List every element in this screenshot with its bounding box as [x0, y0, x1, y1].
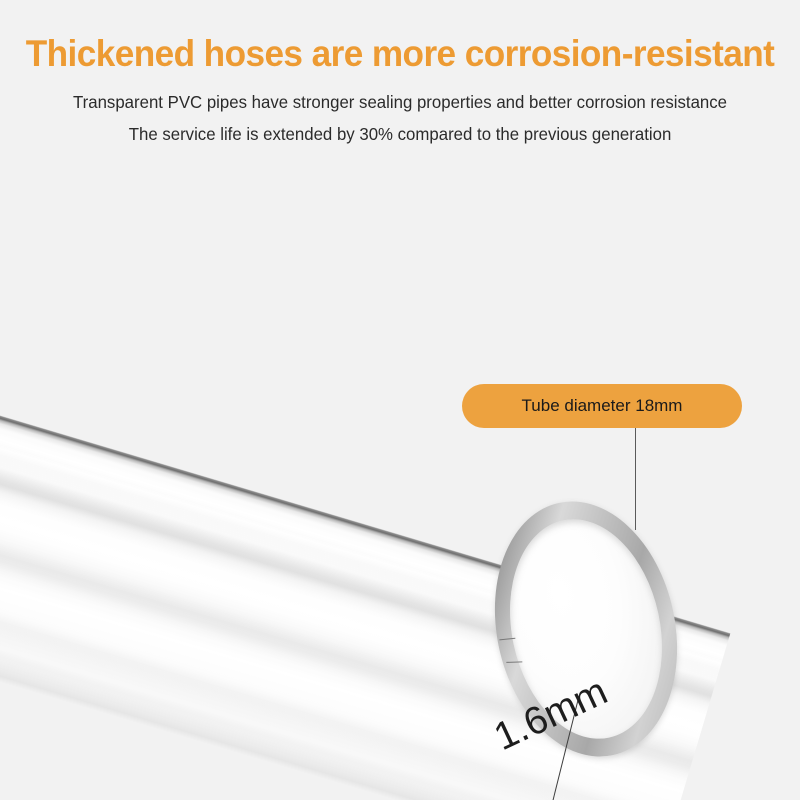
badge-leader-line — [635, 428, 636, 530]
subtitle-line-1: Transparent PVC pipes have stronger seal… — [16, 92, 784, 113]
product-feature-image: Thickened hoses are more corrosion-resis… — [0, 0, 800, 800]
header-text-block: Thickened hoses are more corrosion-resis… — [0, 0, 800, 170]
page-title: Thickened hoses are more corrosion-resis… — [20, 33, 780, 75]
product-photo: 1.6mm — [0, 170, 800, 800]
diameter-badge: Tube diameter 18mm — [462, 384, 742, 428]
diameter-badge-label: Tube diameter 18mm — [522, 396, 683, 416]
subtitle-line-2: The service life is extended by 30% comp… — [16, 124, 784, 145]
